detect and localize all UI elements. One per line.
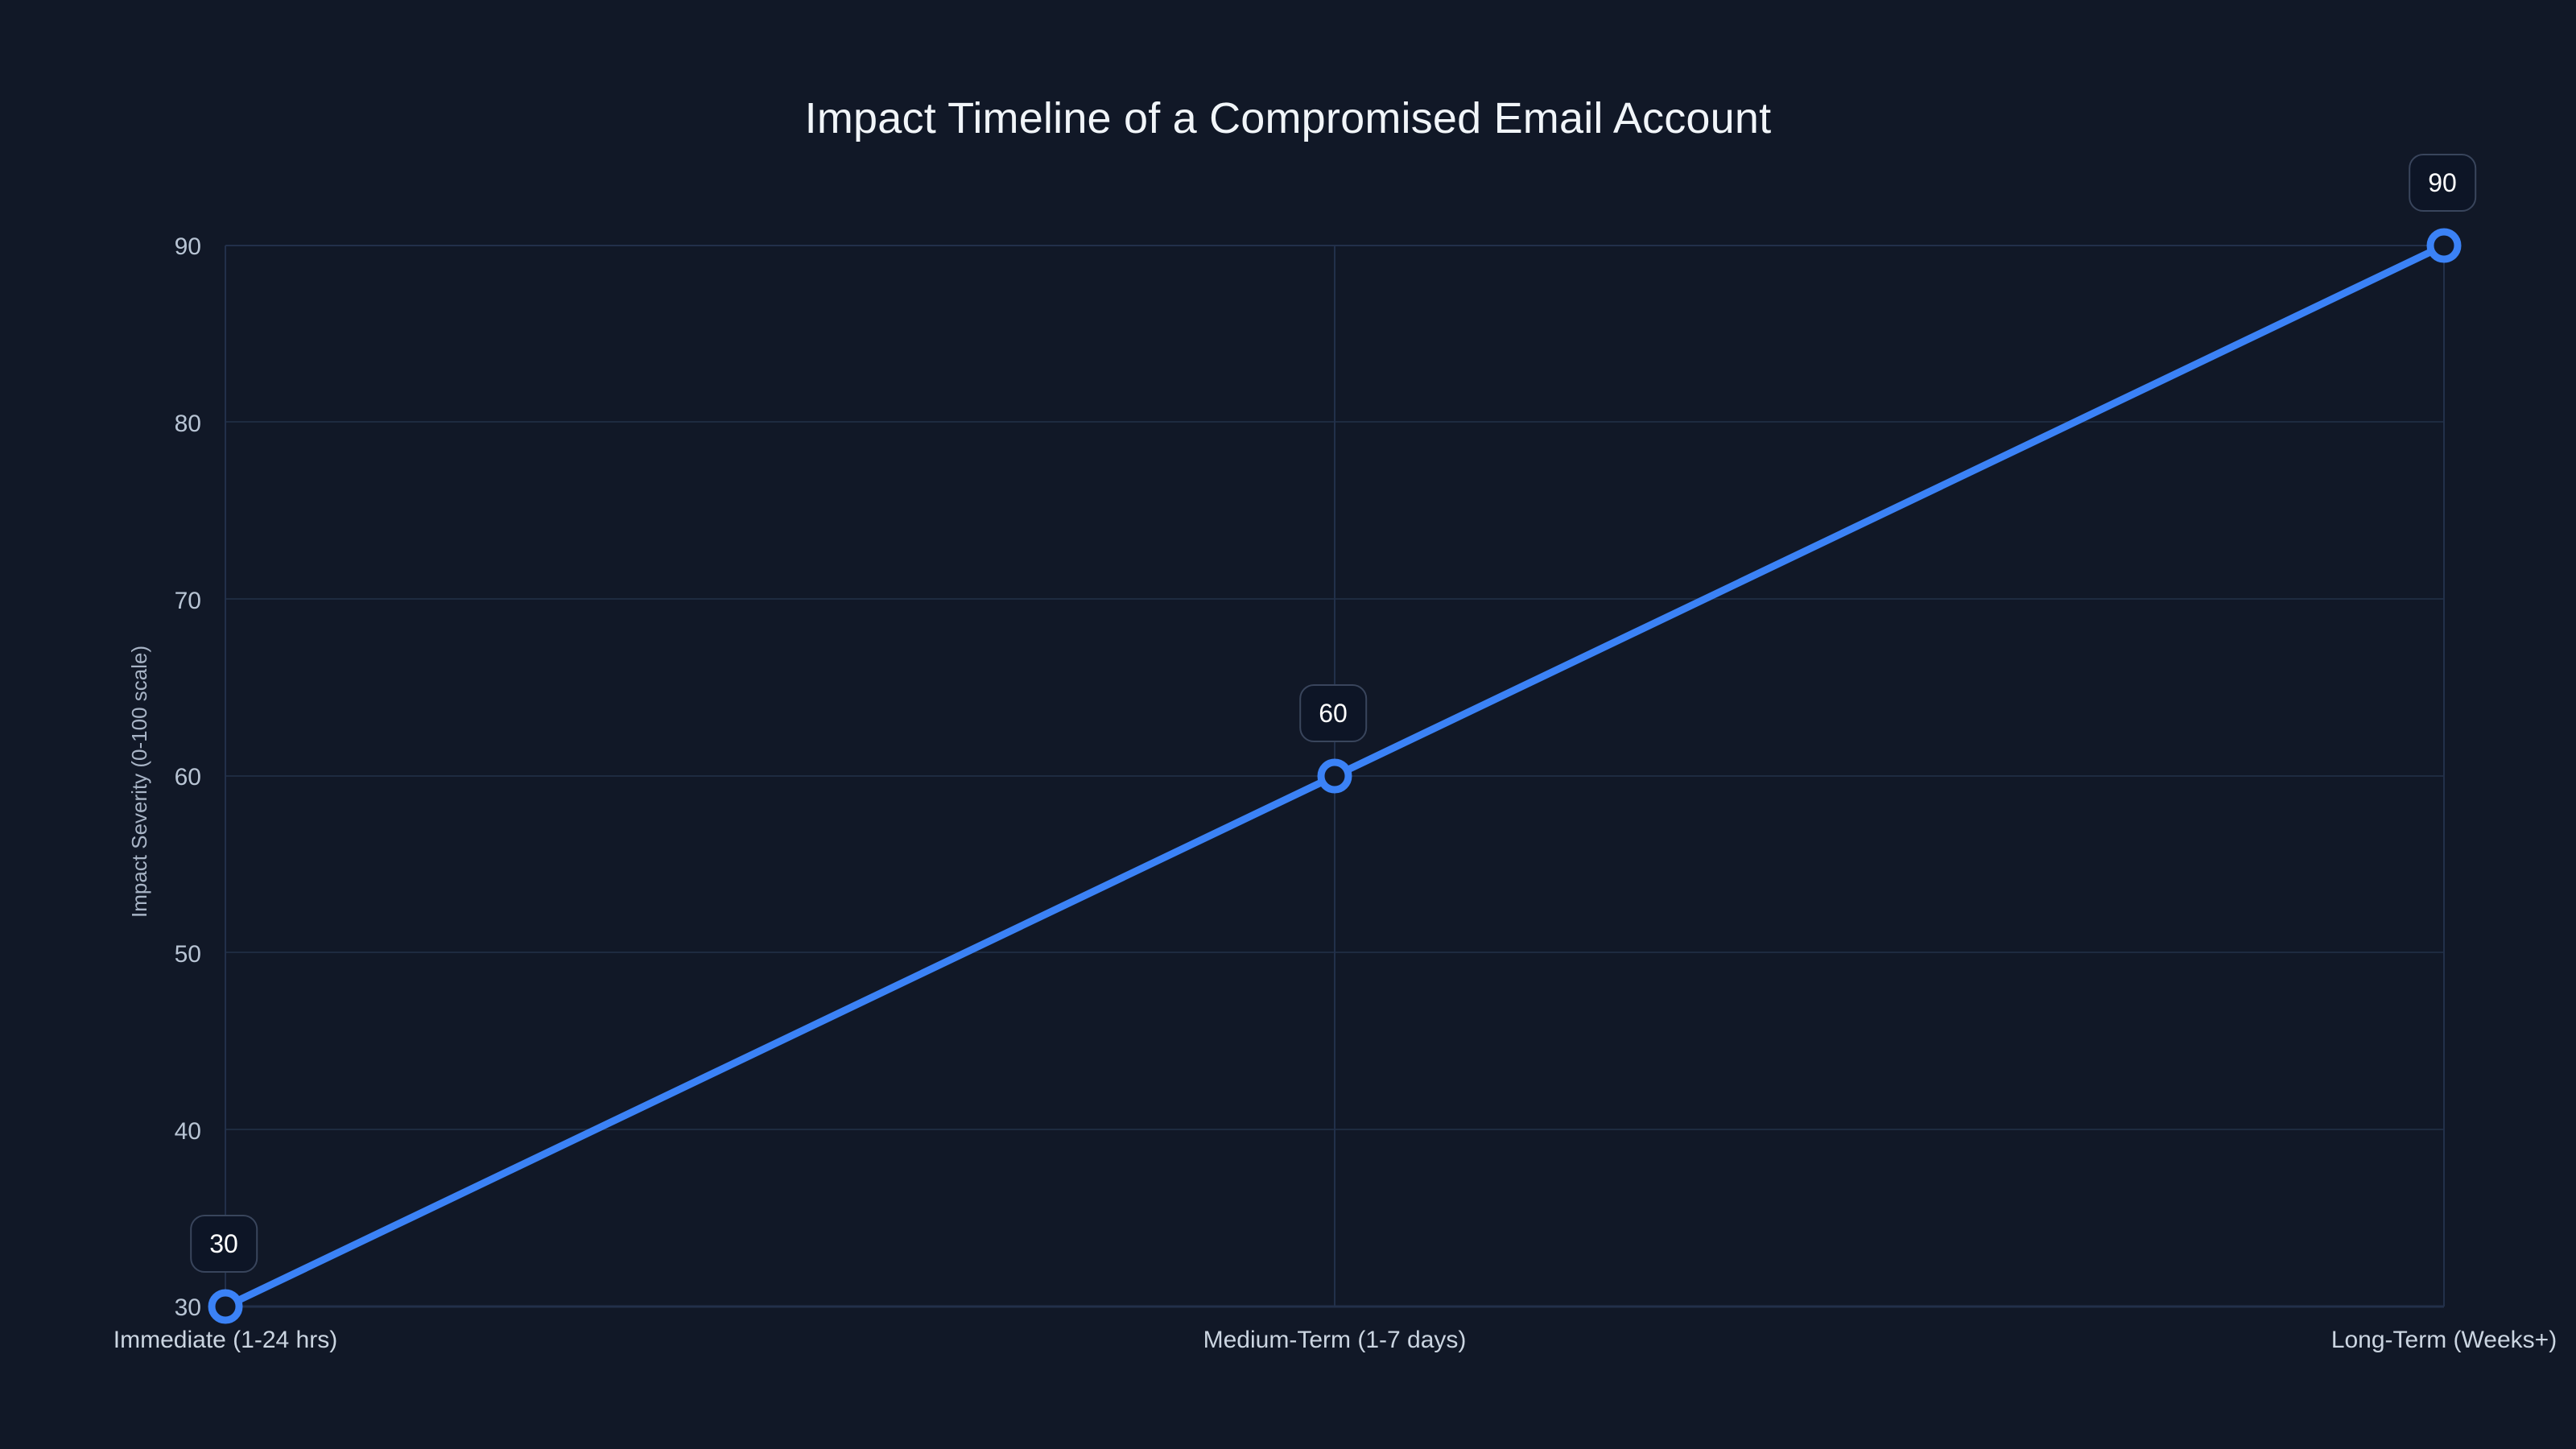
data-point-marker-2 <box>2430 232 2458 259</box>
data-point-marker-0 <box>212 1293 239 1320</box>
data-label-badge-0: 30 <box>190 1215 258 1273</box>
x-tick-label-medium-term: Medium-Term (1-7 days) <box>1203 1328 1467 1352</box>
y-tick-label-50: 50 <box>121 943 201 967</box>
y-tick-label-80: 80 <box>121 412 201 436</box>
x-tick-label-immediate: Immediate (1-24 hrs) <box>114 1328 337 1352</box>
y-tick-label-60: 60 <box>121 766 201 790</box>
chart-canvas: Impact Timeline of a Compromised Email A… <box>0 0 2576 1449</box>
plot-svg <box>0 0 2576 1449</box>
y-tick-label-30: 30 <box>121 1296 201 1320</box>
y-tick-label-90: 90 <box>121 235 201 259</box>
x-tick-label-long-term: Long-Term (Weeks+) <box>2331 1328 2557 1352</box>
data-label-badge-2: 90 <box>2409 154 2476 212</box>
data-point-marker-1 <box>1321 762 1348 790</box>
y-tick-label-70: 70 <box>121 589 201 613</box>
y-tick-label-40: 40 <box>121 1120 201 1144</box>
data-label-badge-1: 60 <box>1299 684 1367 742</box>
